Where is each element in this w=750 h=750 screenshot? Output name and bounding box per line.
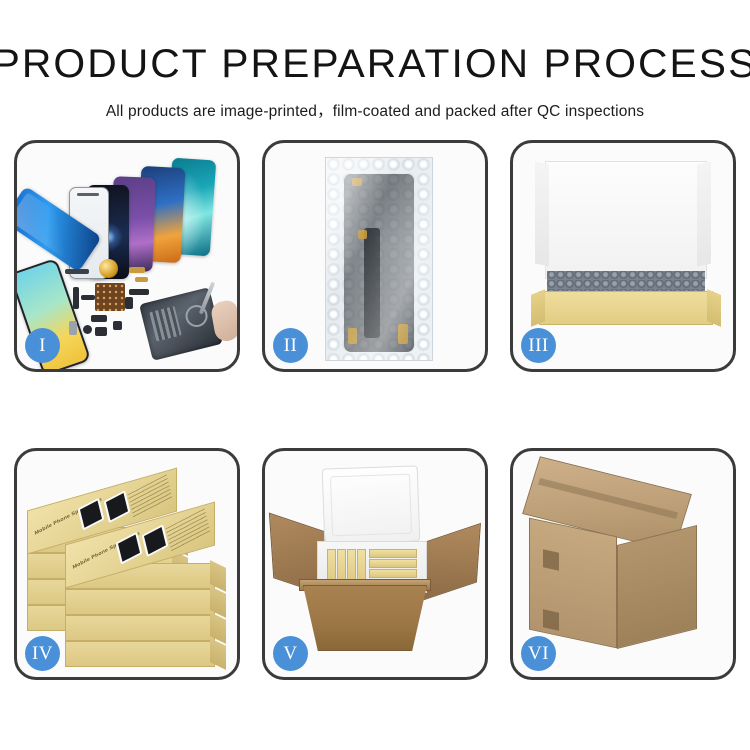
bubble-wrap-bag [325,157,433,361]
phone-chassis-open [139,287,223,361]
process-step-2: II [262,140,488,372]
product-preparation-infographic: PRODUCT PREPARATION PROCESS All products… [0,0,750,750]
spare-part-cable [73,287,79,309]
step-badge-4: IV [25,636,60,671]
spare-part-block [91,315,107,322]
spare-part-speaker [83,325,92,334]
process-step-6: VI [510,448,736,680]
spare-part-sim-tray [69,321,77,335]
process-steps-grid: I II [14,140,736,680]
carton-side-face [617,525,697,649]
kraft-box-tray [539,291,713,325]
page-title: PRODUCT PREPARATION PROCESS [0,44,750,84]
outer-carton-body [303,585,427,651]
stacked-box-front-3 [65,615,215,641]
stacked-box-front-4 [65,641,215,667]
spare-part-gold-flex-2 [135,277,148,282]
page-subtitle: All products are image-printed，film-coat… [0,99,750,121]
spare-part-camera [95,327,107,336]
spare-part-ic [113,321,122,330]
carton-tab-upper [543,549,559,570]
yellow-box-7 [369,569,417,578]
box-window-screen-4 [142,524,169,557]
step-badge-3: III [521,328,556,363]
carton-tab-lower [543,609,559,630]
spare-part-bracket [125,297,133,309]
step-badge-6: VI [521,636,556,671]
yellow-box-5 [369,549,417,558]
stacked-box-front-2 [65,589,215,615]
step-badge-1: I [25,328,60,363]
process-step-5: V [262,448,488,680]
bga-chip-part [95,283,125,311]
box-window-screen-1 [78,498,105,531]
box-stack: Mobile Phone Spare Parts Mobile Phone Sp… [25,471,235,663]
carton-front-face [529,518,617,649]
white-foam-box-lid [322,465,421,544]
gold-coil-part [99,259,118,278]
white-box-lid-right-flap [697,162,711,267]
header: PRODUCT PREPARATION PROCESS All products… [0,0,750,121]
box-spec-lines-front [166,508,211,552]
step-badge-2: II [273,328,308,363]
bag-highlight [326,158,432,360]
spare-part-connector [81,295,95,300]
process-step-3: III [510,140,736,372]
process-step-1: I [14,140,240,372]
process-step-4: Mobile Phone Spare Parts Mobile Phone Sp… [14,448,240,680]
white-box-lid-left-flap [535,162,549,267]
box-window-screen-3 [116,532,143,565]
bubble-foam-padding [547,271,705,293]
spare-part-gold-flex [129,267,145,273]
spare-part-ribbon [129,289,149,295]
box-spec-lines-back [128,474,173,518]
white-box-lid [545,161,707,279]
yellow-box-6 [369,559,417,568]
spare-part-strip [65,269,89,274]
box-window-screen-2 [104,490,131,523]
step-badge-5: V [273,636,308,671]
